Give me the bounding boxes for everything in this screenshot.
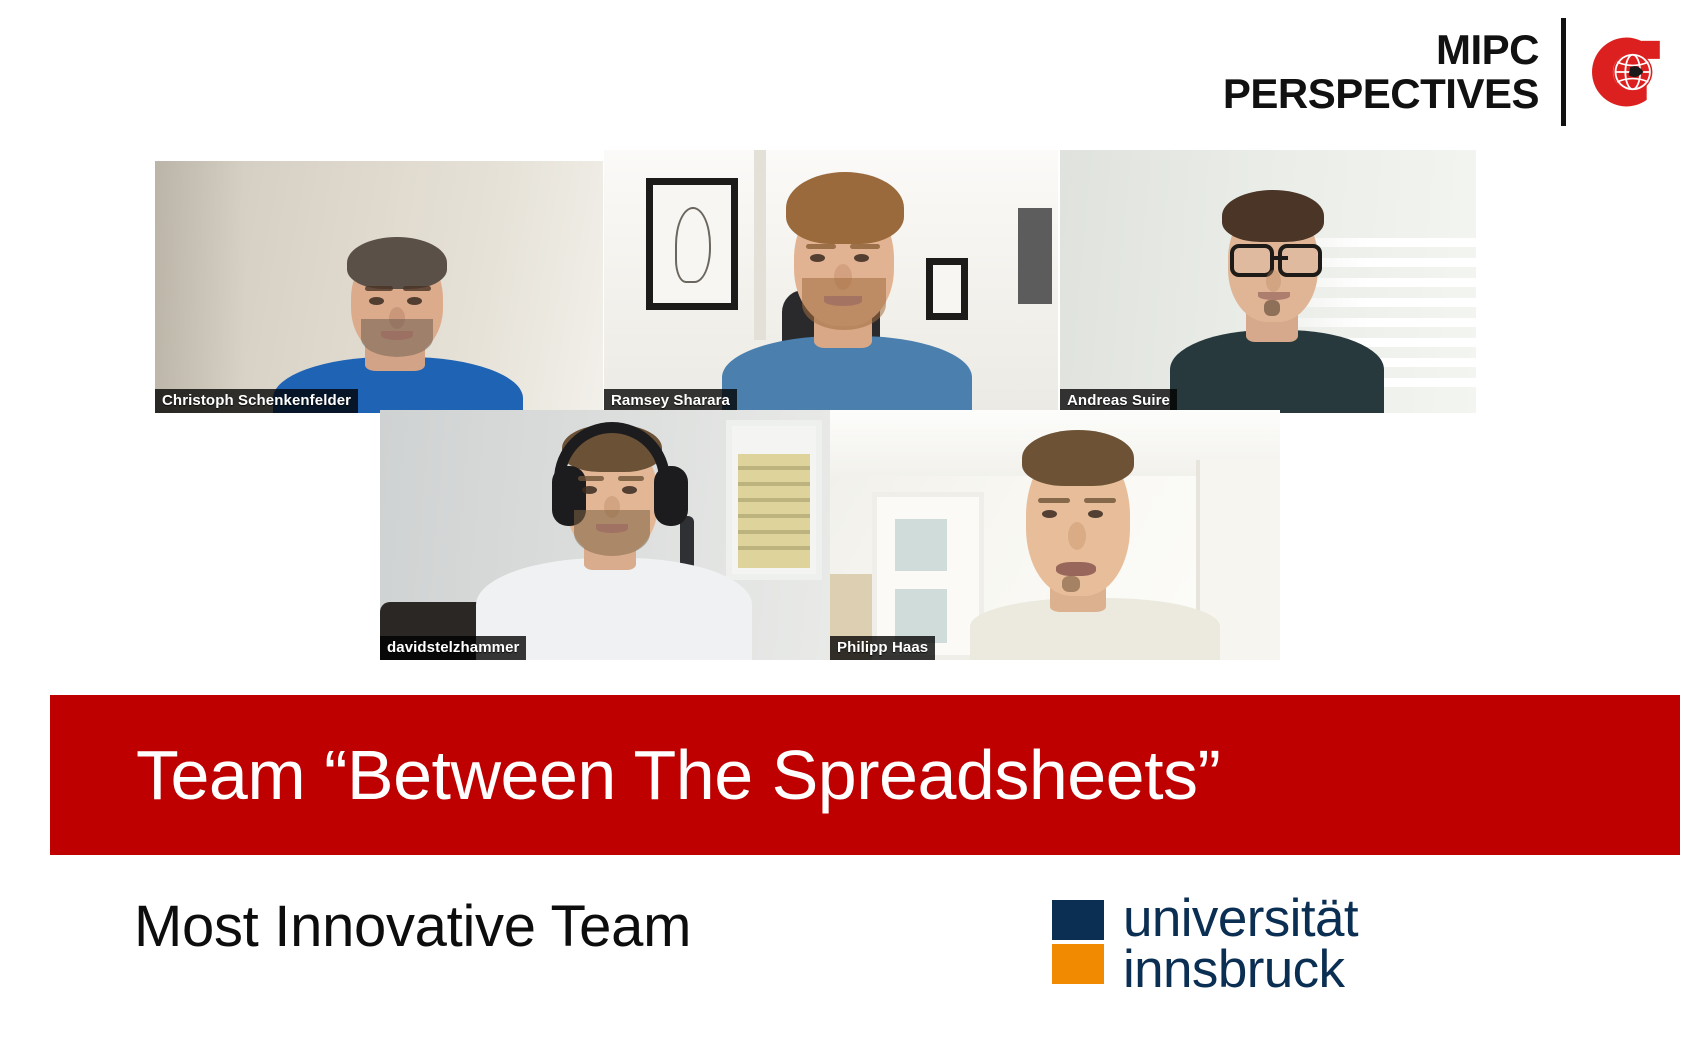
person-eye-right — [1088, 510, 1103, 518]
person-eye-right — [854, 254, 869, 262]
person-hair — [1222, 190, 1324, 242]
video-feed — [155, 161, 603, 413]
person-mouth — [1258, 292, 1290, 300]
participant-name-label: davidstelzhammer — [380, 636, 526, 660]
window — [726, 420, 822, 580]
person-hair — [1022, 430, 1134, 486]
video-call-grid: Christoph Schenkenfelder — [0, 0, 1702, 670]
uni-square-orange — [1052, 944, 1104, 984]
frosted-glass-door — [872, 492, 984, 660]
video-feed — [380, 410, 830, 660]
team-title: Team “Between The Spreadsheets” — [50, 735, 1220, 815]
person-eye-left — [369, 297, 384, 305]
person-mouth — [381, 331, 413, 340]
person-eye-left — [810, 254, 825, 262]
participant-tile[interactable]: Philipp Haas — [830, 410, 1280, 660]
wall-edge — [754, 150, 766, 340]
person-nose — [1266, 270, 1281, 292]
participant-tile[interactable]: Andreas Suire — [1060, 150, 1476, 413]
uni-wordmark: universität innsbruck — [1123, 894, 1358, 996]
wall-shadow — [155, 161, 245, 413]
presentation-slide: MIPC PERSPECTIVES — [0, 0, 1702, 1046]
participant-name-label: Philipp Haas — [830, 636, 935, 660]
university-innsbruck-logo: universität innsbruck — [1052, 894, 1358, 996]
video-feed — [604, 150, 1058, 413]
award-subtitle: Most Innovative Team — [134, 893, 691, 960]
participant-name-label: Christoph Schenkenfelder — [155, 389, 358, 413]
person-hair — [347, 237, 447, 289]
person-brow-right — [1084, 498, 1116, 503]
video-feed — [830, 410, 1280, 660]
person-beard — [574, 510, 650, 556]
person-mouth — [1056, 562, 1096, 576]
uni-line-innsbruck: innsbruck — [1123, 945, 1358, 996]
person-mouth — [824, 296, 862, 306]
uni-square-navy — [1052, 900, 1104, 940]
person-brow-left — [806, 244, 836, 249]
person-eye-right — [407, 297, 422, 305]
person-brow-left — [578, 476, 604, 481]
headphone-cup-right — [654, 466, 688, 526]
participant-tile[interactable]: Christoph Schenkenfelder — [155, 161, 603, 413]
person-hair — [786, 172, 904, 244]
person-mouth — [596, 524, 628, 533]
person-brow-right — [850, 244, 880, 249]
uni-line-universitaet: universität — [1123, 894, 1358, 945]
person-goatee — [1062, 576, 1080, 592]
framed-horse-drawing — [646, 178, 738, 310]
person-brow-left — [1038, 498, 1070, 503]
participant-tile[interactable]: davidstelzhammer — [380, 410, 830, 660]
participant-tile[interactable]: Ramsey Sharara — [604, 150, 1058, 413]
person-eye-left — [1042, 510, 1057, 518]
person-brow-right — [403, 286, 431, 291]
uni-logo-squares — [1052, 900, 1104, 984]
person-eye-left — [582, 486, 597, 494]
person-brow-left — [365, 286, 393, 291]
person-nose — [1068, 522, 1086, 550]
wall-poster — [1018, 208, 1052, 304]
team-title-banner: Team “Between The Spreadsheets” — [50, 695, 1680, 855]
person-goatee — [1264, 300, 1280, 316]
person-torso — [1170, 330, 1384, 413]
window-blind — [738, 454, 810, 568]
person-eye-right — [622, 486, 637, 494]
framed-photo-right — [926, 258, 968, 320]
video-feed — [1060, 150, 1476, 413]
person-brow-right — [618, 476, 644, 481]
